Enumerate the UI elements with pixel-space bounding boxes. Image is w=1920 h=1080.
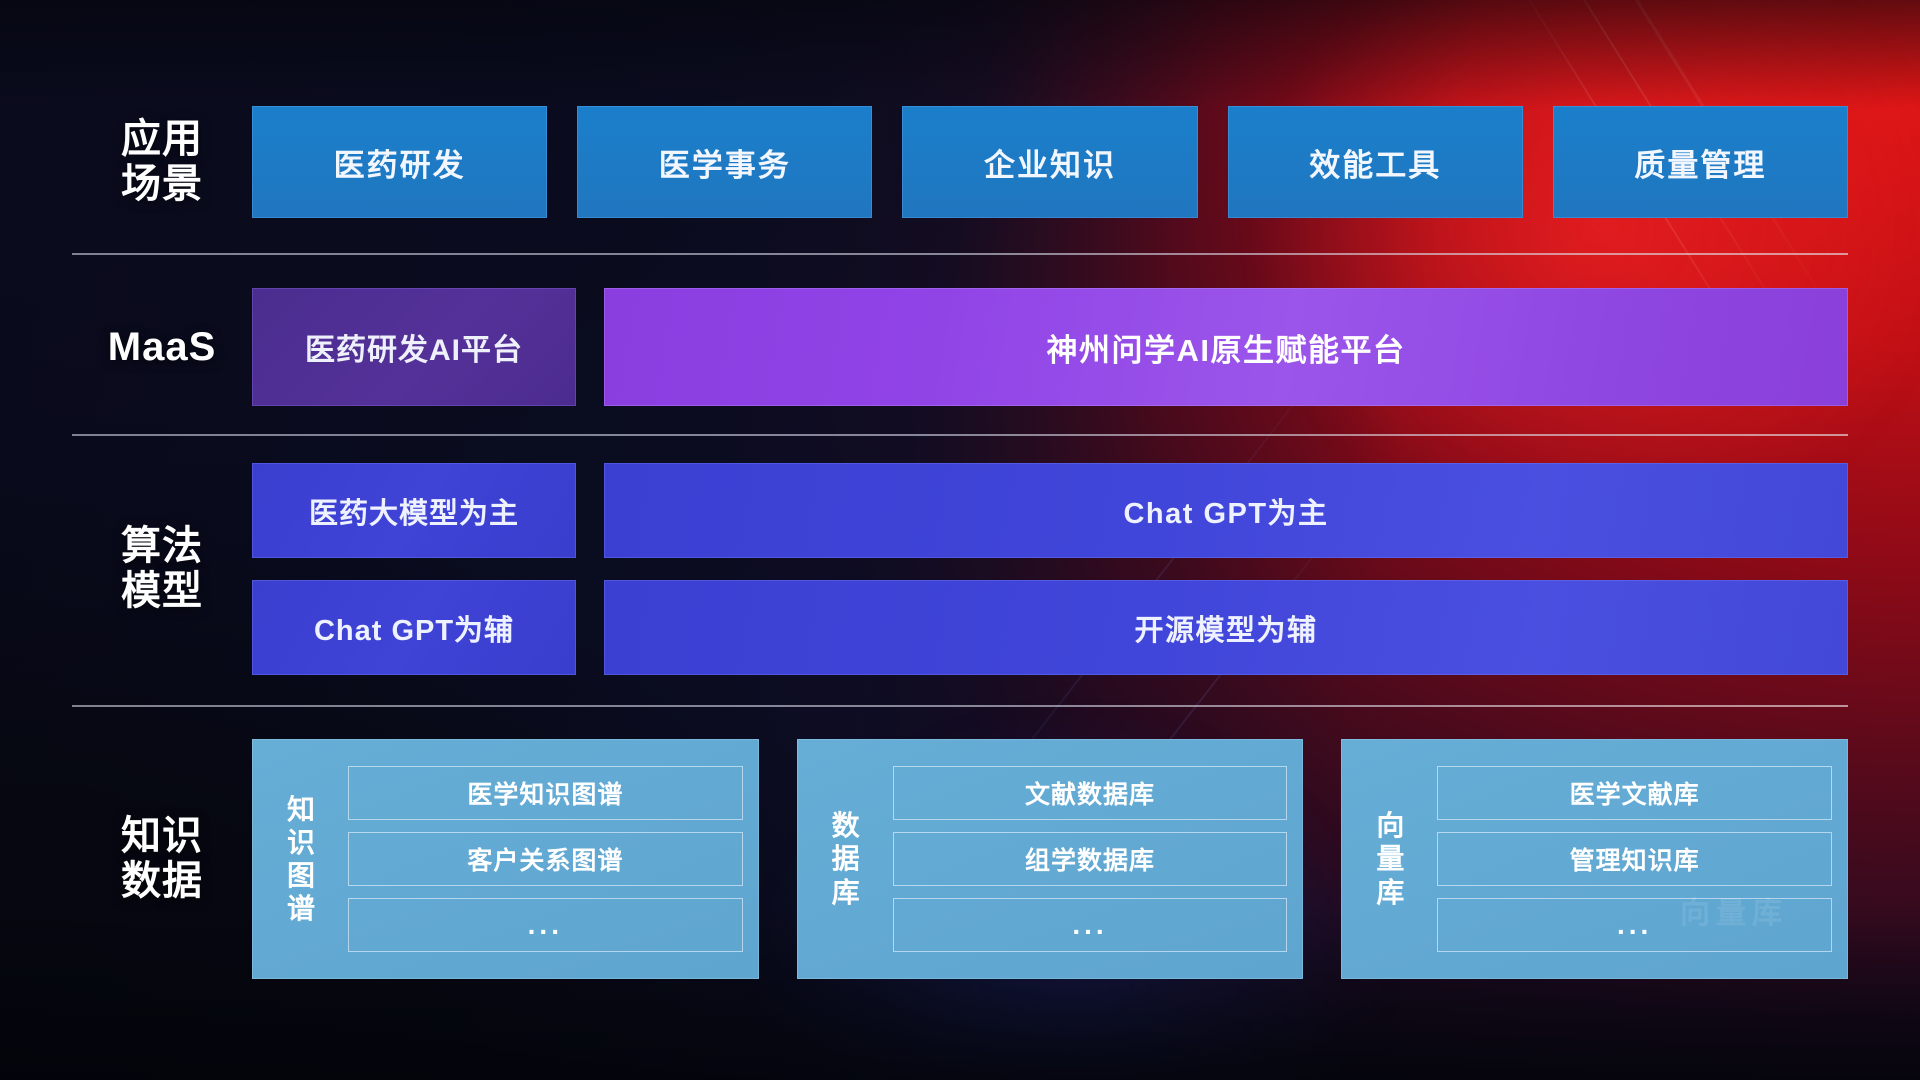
knowledge-group-list: 知 识 图 谱 医学知识图谱 客户关系图谱 ... 数 据 bbox=[252, 739, 1848, 979]
algorithm-row-secondary: Chat GPT为辅 开源模型为辅 bbox=[252, 580, 1848, 675]
row-label-line: 场景 bbox=[72, 162, 252, 207]
knowledge-item-customer-relation-graph[interactable]: 客户关系图谱 bbox=[348, 832, 743, 886]
app-card-medical-affairs[interactable]: 医学事务 bbox=[577, 106, 872, 218]
row-label-application-scenarios: 应用 场景 bbox=[72, 117, 252, 207]
knowledge-group-vector-store[interactable]: 向 量 库 医学文献库 管理知识库 ... bbox=[1341, 739, 1848, 979]
app-card-enterprise-knowledge[interactable]: 企业知识 bbox=[902, 106, 1197, 218]
knowledge-title-char: 库 bbox=[1351, 876, 1429, 909]
maas-card-shenzhou-wenxue-platform[interactable]: 神州问学AI原生赋能平台 bbox=[604, 288, 1848, 406]
knowledge-title-char: 据 bbox=[807, 842, 885, 875]
knowledge-title-char: 谱 bbox=[262, 892, 340, 925]
row-maas: MaaS 医药研发AI平台 神州问学AI原生赋能平台 bbox=[72, 288, 1848, 406]
divider-after-algorithms bbox=[72, 705, 1848, 707]
row-label-line: 应用 bbox=[72, 117, 252, 162]
algorithm-row-primary: 医药大模型为主 Chat GPT为主 bbox=[252, 463, 1848, 558]
maas-panel-list: 医药研发AI平台 神州问学AI原生赋能平台 bbox=[252, 288, 1848, 406]
slide-canvas: 应用 场景 医药研发 医学事务 企业知识 效能工具 质量管理 MaaS 医药研发… bbox=[0, 0, 1920, 1080]
knowledge-item-medical-literature-store[interactable]: 医学文献库 bbox=[1437, 766, 1832, 820]
algorithm-card-list: 医药大模型为主 Chat GPT为主 Chat GPT为辅 开源模型为辅 bbox=[252, 463, 1848, 675]
row-label-line: 模型 bbox=[72, 569, 252, 614]
diagram-content: 应用 场景 医药研发 医学事务 企业知识 效能工具 质量管理 MaaS 医药研发… bbox=[0, 0, 1920, 1080]
knowledge-group-title-vector-store: 向 量 库 bbox=[1351, 809, 1429, 908]
app-card-efficiency-tools[interactable]: 效能工具 bbox=[1228, 106, 1523, 218]
application-card-list: 医药研发 医学事务 企业知识 效能工具 质量管理 bbox=[252, 106, 1848, 218]
app-card-drug-rd[interactable]: 医药研发 bbox=[252, 106, 547, 218]
knowledge-title-char: 库 bbox=[807, 876, 885, 909]
knowledge-title-char: 识 bbox=[262, 826, 340, 859]
knowledge-group-title-database: 数 据 库 bbox=[807, 809, 885, 908]
algo-card-opensource-secondary[interactable]: 开源模型为辅 bbox=[604, 580, 1848, 675]
knowledge-item-literature-database[interactable]: 文献数据库 bbox=[893, 766, 1288, 820]
knowledge-item-more[interactable]: ... bbox=[893, 898, 1288, 952]
maas-card-drug-rd-ai-platform[interactable]: 医药研发AI平台 bbox=[252, 288, 576, 406]
row-application-scenarios: 应用 场景 医药研发 医学事务 企业知识 效能工具 质量管理 bbox=[72, 106, 1848, 218]
divider-after-maas bbox=[72, 434, 1848, 436]
row-label-line: 数据 bbox=[72, 859, 252, 904]
row-label-knowledge-data: 知识 数据 bbox=[72, 814, 252, 904]
row-label-line: 算法 bbox=[72, 524, 252, 569]
knowledge-group-database[interactable]: 数 据 库 文献数据库 组学数据库 ... bbox=[797, 739, 1304, 979]
knowledge-title-char: 知 bbox=[262, 793, 340, 826]
algo-card-chatgpt-primary[interactable]: Chat GPT为主 bbox=[604, 463, 1848, 558]
row-label-maas: MaaS bbox=[72, 325, 252, 370]
knowledge-title-char: 图 bbox=[262, 859, 340, 892]
row-label-line: MaaS bbox=[72, 325, 252, 370]
app-card-quality-management[interactable]: 质量管理 bbox=[1553, 106, 1848, 218]
knowledge-item-list: 文献数据库 组学数据库 ... bbox=[885, 766, 1288, 952]
knowledge-group-knowledge-graph[interactable]: 知 识 图 谱 医学知识图谱 客户关系图谱 ... bbox=[252, 739, 759, 979]
row-knowledge-data: 知识 数据 知 识 图 谱 医学知识图谱 客户关系图谱 ... bbox=[72, 727, 1848, 991]
knowledge-title-char: 向 bbox=[1351, 809, 1429, 842]
row-label-algorithm-models: 算法 模型 bbox=[72, 524, 252, 614]
row-label-line: 知识 bbox=[72, 814, 252, 859]
knowledge-item-more[interactable]: ... bbox=[348, 898, 743, 952]
algo-card-chatgpt-secondary[interactable]: Chat GPT为辅 bbox=[252, 580, 576, 675]
knowledge-item-list: 医学知识图谱 客户关系图谱 ... bbox=[340, 766, 743, 952]
knowledge-item-medical-knowledge-graph[interactable]: 医学知识图谱 bbox=[348, 766, 743, 820]
watermark-text: 向量库 bbox=[1680, 888, 1788, 932]
algo-card-pharma-llm-primary[interactable]: 医药大模型为主 bbox=[252, 463, 576, 558]
knowledge-item-management-knowledge-base[interactable]: 管理知识库 bbox=[1437, 832, 1832, 886]
knowledge-title-char: 数 bbox=[807, 809, 885, 842]
knowledge-item-omics-database[interactable]: 组学数据库 bbox=[893, 832, 1288, 886]
row-algorithm-models: 算法 模型 医药大模型为主 Chat GPT为主 Chat GPT为辅 开源模型… bbox=[72, 463, 1848, 675]
knowledge-group-title-knowledge-graph: 知 识 图 谱 bbox=[262, 793, 340, 925]
divider-after-applications bbox=[72, 253, 1848, 255]
knowledge-title-char: 量 bbox=[1351, 842, 1429, 875]
